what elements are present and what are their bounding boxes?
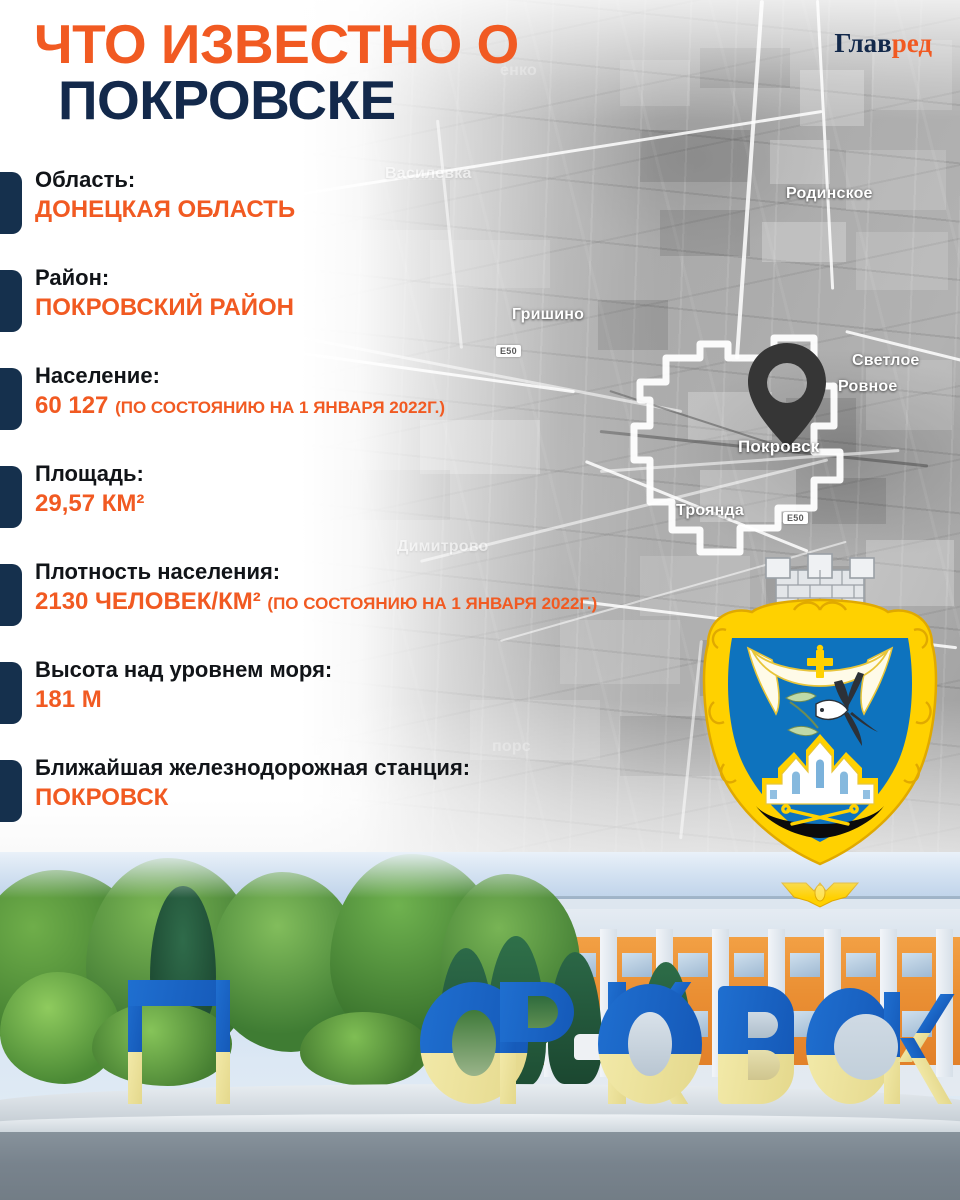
fact-marker [0, 466, 22, 528]
fact-label: Высота над уровнем моря: [35, 656, 332, 684]
fact-label: Область: [35, 166, 295, 194]
fact-label: Район: [35, 264, 294, 292]
fact-value-note: (ПО СОСТОЯНИЮ НА 1 ЯНВАРЯ 2022Г.) [115, 398, 445, 417]
fact-value: ПОКРОВСК [35, 783, 470, 813]
fact-value: ПОКРОВСКИЙ РАЙОН [35, 293, 294, 323]
fact-value-main: ПОКРОВСКИЙ РАЙОН [35, 294, 294, 321]
fact-value-note: (ПО СОСТОЯНИЮ НА 1 ЯНВАРЯ 2022Г.) [267, 594, 597, 613]
fact-value: 29,57 КМ² [35, 489, 144, 519]
fact-value-main: ПОКРОВСК [35, 784, 168, 811]
fact-marker [0, 760, 22, 822]
fact-value-main: ДОНЕЦКАЯ ОБЛАСТЬ [35, 196, 295, 223]
fact-marker [0, 368, 22, 430]
fact-marker [0, 564, 22, 626]
fact-row-raion: Район: ПОКРОВСКИЙ РАЙОН [0, 264, 740, 362]
fact-value-main: 181 М [35, 686, 102, 713]
fact-label: Плотность населения: [35, 558, 597, 586]
fact-row-elevation: Высота над уровнем моря: 181 М [0, 656, 740, 754]
map-label-pokrovsk: Покровск [738, 437, 819, 457]
brand-logo-part1: Глав [834, 28, 891, 58]
fact-marker [0, 662, 22, 724]
fact-marker [0, 172, 22, 234]
page-title-line2: ПОКРОВСКЕ [58, 72, 519, 128]
fact-row-oblast: Область: ДОНЕЦКАЯ ОБЛАСТЬ [0, 166, 740, 264]
infographic-root: Василевка енко Родинское Гришино Светлое… [0, 0, 960, 1200]
fact-value: 2130 ЧЕЛОВЕК/КМ² (ПО СОСТОЯНИЮ НА 1 ЯНВА… [35, 587, 597, 617]
fact-label: Ближайшая железнодорожная станция: [35, 754, 470, 782]
page-title-line1: ЧТО ИЗВЕСТНО О [34, 16, 519, 72]
brand-logo[interactable]: Главред [834, 28, 932, 59]
map-label-rovnoe: Ровное [838, 378, 897, 396]
map-label-rodinskoe: Родинское [786, 185, 873, 203]
fact-value-main: 60 127 [35, 392, 108, 419]
fact-row-density: Плотность населения: 2130 ЧЕЛОВЕК/КМ² (П… [0, 558, 740, 656]
fact-marker [0, 270, 22, 332]
fact-label: Население: [35, 362, 445, 390]
fact-value: ДОНЕЦКАЯ ОБЛАСТЬ [35, 195, 295, 225]
fact-row-population: Население: 60 127 (ПО СОСТОЯНИЮ НА 1 ЯНВ… [0, 362, 740, 460]
fact-row-railway-station: Ближайшая железнодорожная станция: ПОКРО… [0, 754, 740, 852]
fact-value-main: 2130 ЧЕЛОВЕК/КМ² [35, 588, 261, 615]
map-label-svetloe: Светлое [852, 352, 920, 370]
fact-value: 60 127 (ПО СОСТОЯНИЮ НА 1 ЯНВАРЯ 2022Г.) [35, 391, 445, 421]
fact-row-area: Площадь: 29,57 КМ² [0, 460, 740, 558]
page-title: ЧТО ИЗВЕСТНО О ПОКРОВСКЕ [34, 16, 519, 128]
fact-value: 181 М [35, 685, 332, 715]
road-shield-e50-south: E50 [783, 512, 808, 524]
brand-logo-part2: ред [892, 28, 932, 58]
fact-value-main: 29,57 КМ² [35, 490, 144, 517]
fact-label: Площадь: [35, 460, 144, 488]
fact-list: Область: ДОНЕЦКАЯ ОБЛАСТЬ Район: ПОКРОВС… [0, 166, 740, 852]
